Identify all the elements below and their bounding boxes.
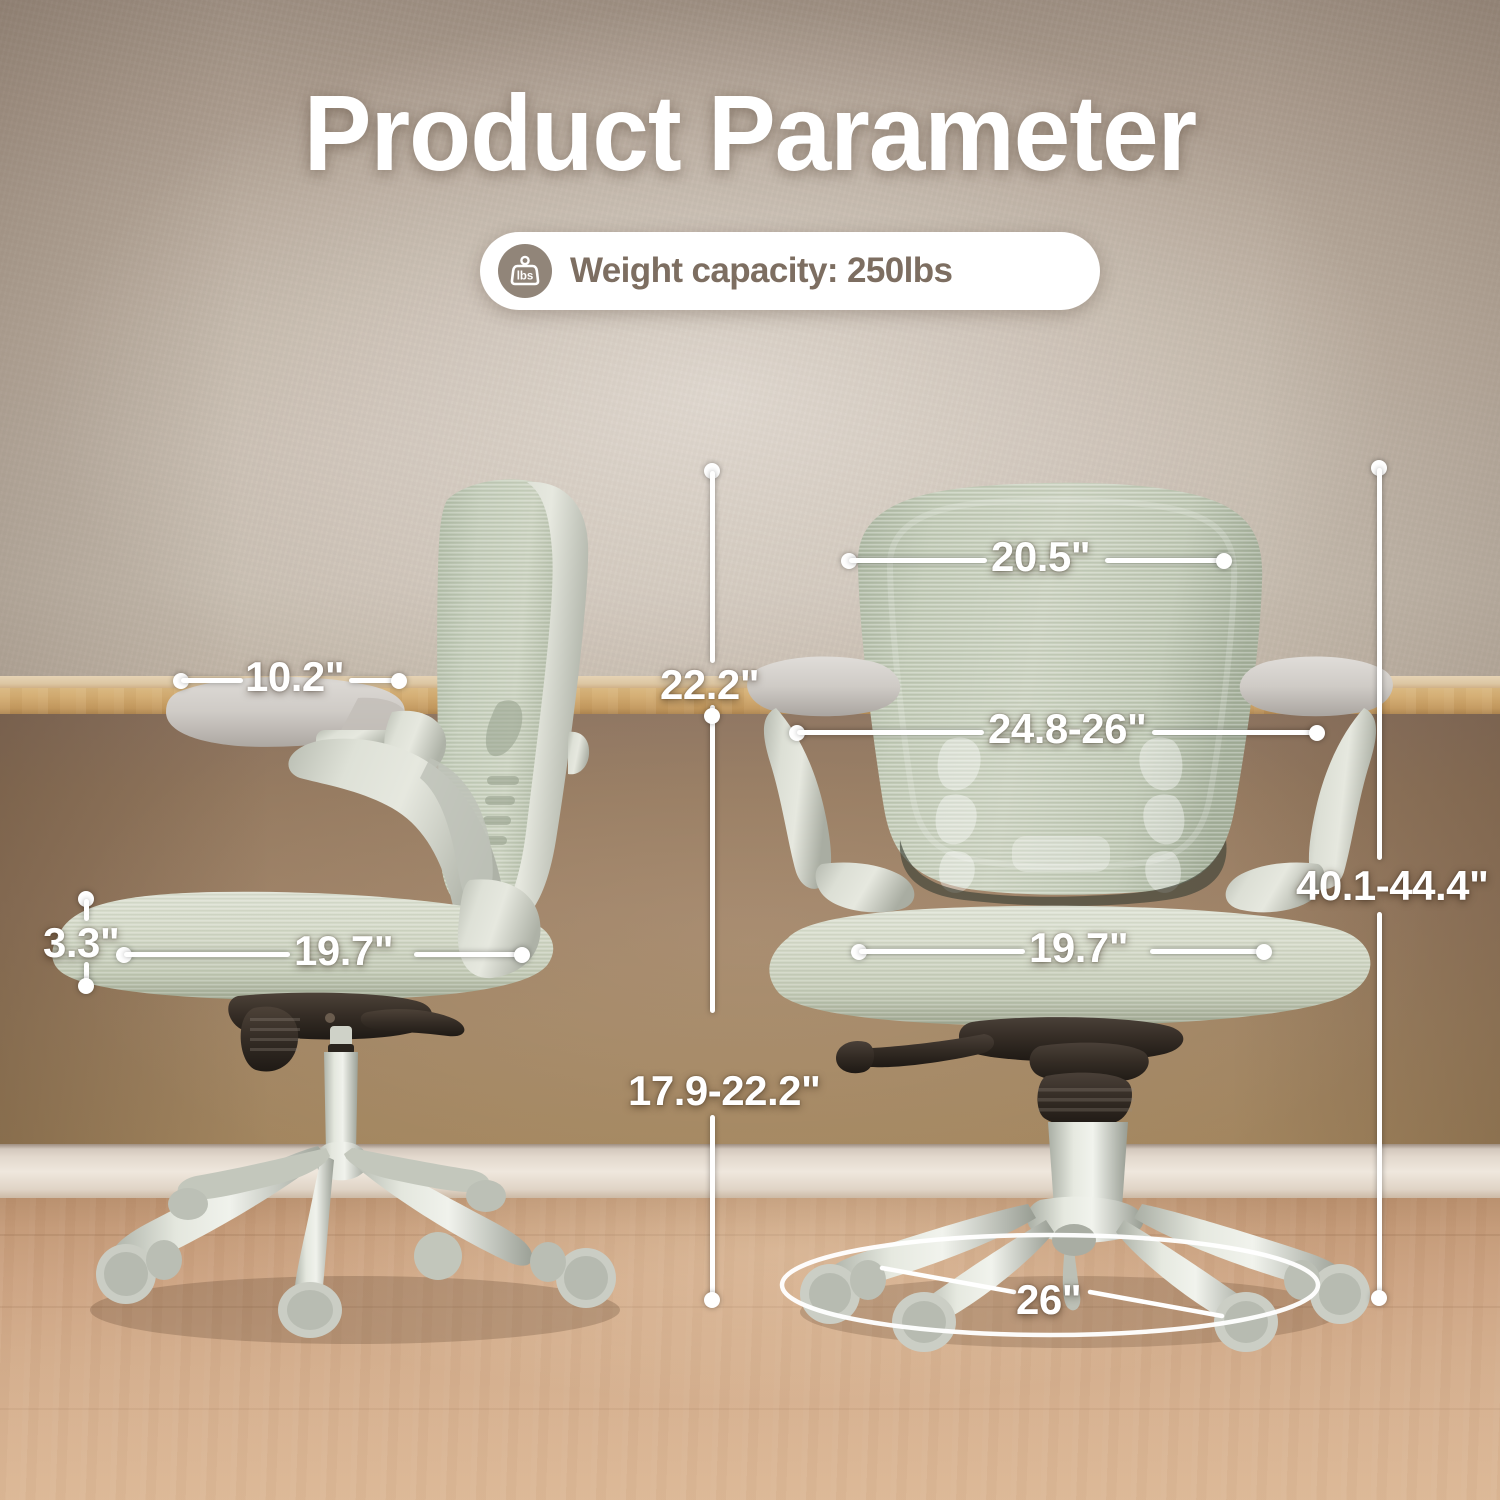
caster-right-front-yoke — [530, 1242, 566, 1282]
backrest-slot-2 — [485, 796, 515, 805]
caster-left-front-yoke — [146, 1240, 182, 1280]
armrest-bracket-left — [816, 863, 915, 913]
dim-label-overall-height: 40.1-44.4" — [1296, 862, 1488, 910]
dim-line-right — [1152, 730, 1315, 735]
dim-dot-right — [391, 673, 407, 689]
dim-line-left — [859, 949, 1025, 954]
weight-capacity-badge: lbs Weight capacity: 250lbs — [480, 232, 1100, 310]
dim-label-armrest-width: 24.8-26" — [988, 705, 1146, 753]
dim-label-seat-thickness: 3.3" — [43, 919, 119, 967]
caster-right-mid — [414, 1232, 462, 1280]
backrest-tilt-knob — [568, 732, 589, 775]
dim-line-top — [84, 899, 89, 921]
dim-dot-bottom — [1371, 1290, 1387, 1306]
dim-label-backrest-width: 20.5" — [991, 533, 1090, 581]
lumbar-center-pad — [1012, 836, 1110, 872]
dim-line-lower — [1377, 912, 1382, 1292]
weight-capacity-label: Weight capacity: 250lbs — [570, 251, 952, 291]
dim-label-seat-depth: 19.7" — [294, 927, 393, 975]
dim-line-left — [797, 730, 984, 735]
dim-line-left — [181, 678, 243, 683]
dim-label-backrest-height: 22.2" — [660, 661, 759, 709]
dim-dot-right — [1309, 725, 1325, 741]
dim-line-lower — [710, 1115, 715, 1300]
front-gas-cylinder — [1048, 1122, 1128, 1208]
dim-line-upper-a — [710, 471, 715, 663]
dim-dot-right — [1216, 553, 1232, 569]
mechanism-bolt — [325, 1013, 335, 1023]
dim-dot-right — [514, 947, 530, 963]
front-height-lever — [856, 1034, 994, 1067]
dim-line-right — [1105, 558, 1222, 563]
dim-label-armrest-depth: 10.2" — [245, 653, 344, 701]
gas-cylinder — [324, 1052, 358, 1152]
dim-line-right — [1150, 949, 1264, 954]
dim-dot-bottom — [78, 978, 94, 994]
product-parameter-infographic: Product Parameter lbs Weight capacity: 2… — [0, 0, 1500, 1500]
armrest-pad-right — [1240, 656, 1393, 716]
dim-line-right — [414, 952, 522, 957]
dim-line-upper — [1377, 468, 1382, 860]
dim-label-base-diameter: 26" — [1016, 1276, 1081, 1324]
dim-dot-mid — [704, 708, 720, 724]
side-view-chair — [0, 440, 700, 1360]
side-view-chair-illustration — [0, 440, 700, 1360]
backrest-slot-3 — [483, 816, 511, 825]
weight-lbs-icon: lbs — [498, 244, 552, 298]
lever-handle — [836, 1041, 874, 1073]
dim-dot-right — [1256, 944, 1272, 960]
tension-knob-front — [1037, 1073, 1134, 1127]
dim-label-seat-width: 19.7" — [1029, 924, 1128, 972]
caster-left-rear — [168, 1188, 208, 1220]
svg-text:lbs: lbs — [517, 271, 534, 283]
backrest-slot-1 — [487, 776, 519, 785]
dim-dot-bottom — [704, 1292, 720, 1308]
armrest-pad-left — [747, 656, 900, 716]
dim-line-upper-b — [710, 705, 715, 1013]
dim-line-left — [124, 952, 290, 957]
dim-line-left — [849, 558, 987, 563]
page-title: Product Parameter — [45, 70, 1455, 195]
dim-label-seat-height-range: 17.9-22.2" — [628, 1067, 820, 1115]
caster-right-rear — [466, 1180, 506, 1212]
